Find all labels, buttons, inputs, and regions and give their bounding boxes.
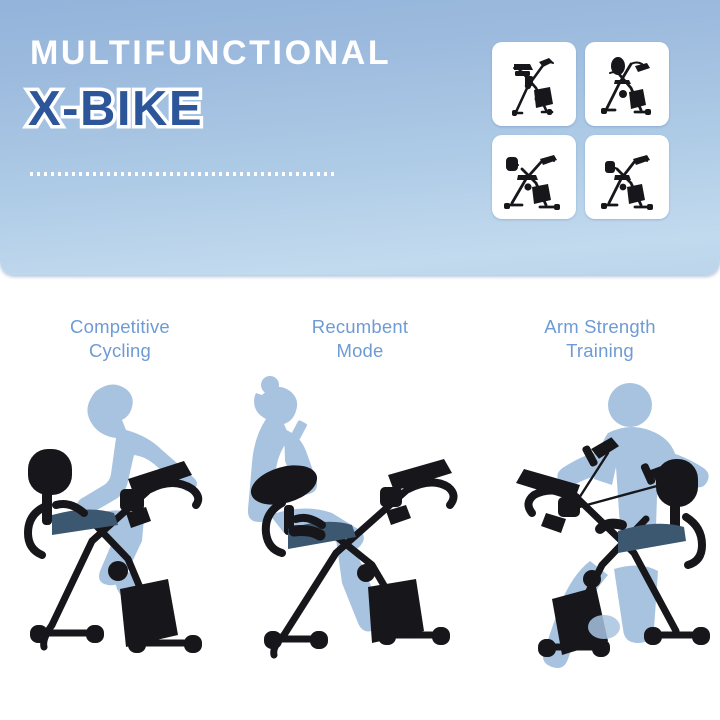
feature-label-recumbent-mode: Recumbent Mode (312, 315, 408, 362)
thumbnail-grid (492, 42, 670, 219)
feature-arm-strength-training: Arm Strength Training (480, 275, 720, 720)
x-bike-side-upright-thumbnail[interactable] (585, 42, 669, 126)
competitive-cycling-illustration (0, 363, 240, 703)
x-bike-front-angle-thumbnail[interactable] (492, 42, 576, 126)
x-bike-folded-thumbnail[interactable] (585, 135, 669, 219)
dotted-divider-icon (30, 172, 335, 176)
feature-panels: Competitive Cycling (0, 275, 720, 720)
recumbent-mode-illustration (240, 363, 480, 703)
feature-label-competitive-cycling: Competitive Cycling (70, 315, 170, 362)
arm-strength-training-illustration (480, 363, 720, 703)
page-title: MULTIFUNCTIONAL (30, 36, 391, 70)
x-bike-backrest-thumbnail[interactable] (492, 135, 576, 219)
product-logo: X-BIKE (28, 85, 203, 134)
hero-banner: MULTIFUNCTIONAL X-BIKE (0, 0, 720, 275)
feature-label-arm-strength-training: Arm Strength Training (544, 315, 655, 362)
feature-recumbent-mode: Recumbent Mode (240, 275, 480, 720)
feature-competitive-cycling: Competitive Cycling (0, 275, 240, 720)
product-feature-page: MULTIFUNCTIONAL X-BIKE (0, 0, 720, 720)
